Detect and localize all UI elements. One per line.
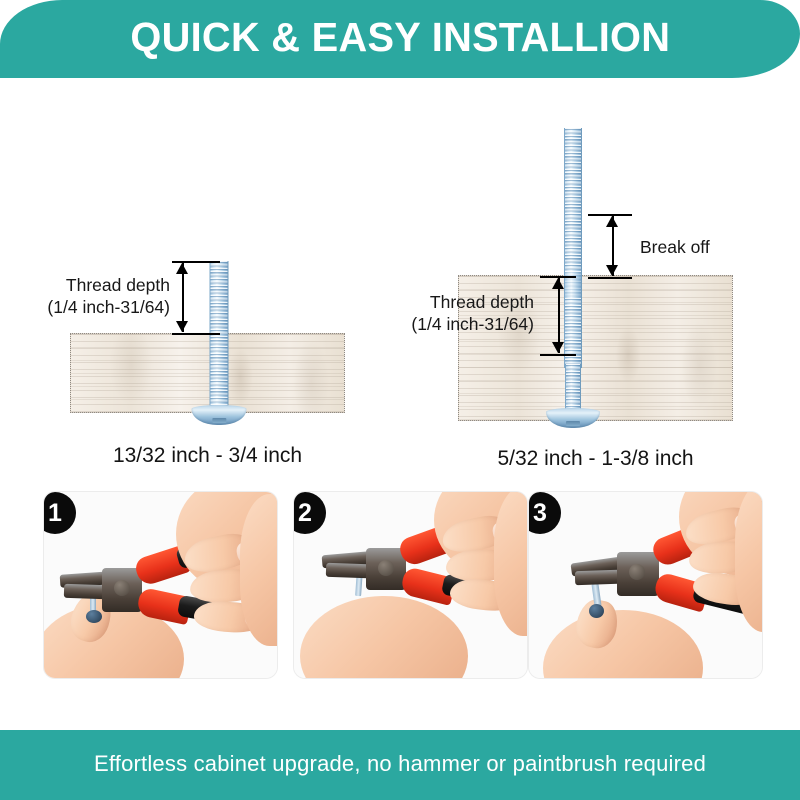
screw-shank-upper xyxy=(564,128,582,368)
step-panels: 1 2 xyxy=(0,480,800,685)
thread-depth-line-2: (1/4 inch-31/64) xyxy=(362,313,534,335)
plier-pivot xyxy=(114,580,130,596)
screw-shank xyxy=(210,261,229,409)
dim-arrow-down-thin xyxy=(176,321,188,332)
plier-pivot xyxy=(378,560,394,576)
hand-lower xyxy=(543,610,703,678)
dim-tick-bottom-thick xyxy=(540,354,576,356)
dim-arrow-up-thick xyxy=(552,278,564,289)
screw-head xyxy=(546,408,600,428)
wood-board-thin xyxy=(70,333,345,413)
dim-arrow-up-thin xyxy=(176,263,188,274)
thread-depth-line-2: (1/4 inch-31/64) xyxy=(0,296,170,318)
footer-banner: Effortless cabinet upgrade, no hammer or… xyxy=(0,730,800,800)
step-panel-1[interactable]: 1 xyxy=(44,492,277,678)
step-photo-1 xyxy=(44,492,277,678)
screw-shank-lower xyxy=(565,364,581,412)
step-panel-2[interactable]: 2 xyxy=(294,492,527,678)
thread-depth-label-thick: Thread depth (1/4 inch-31/64) xyxy=(362,291,534,336)
plier-pivot xyxy=(629,564,645,580)
thread-depth-label-thin: Thread depth (1/4 inch-31/64) xyxy=(0,274,170,319)
diagram-area: Thread depth (1/4 inch-31/64) 13/32 inch… xyxy=(0,78,800,478)
hand-lower xyxy=(300,596,468,678)
dim-arrow-down-break xyxy=(606,265,618,276)
dim-tick-break-bottom xyxy=(588,277,632,279)
step-photo-3 xyxy=(529,492,762,678)
caption-thick: 5/32 inch - 1-3/8 inch xyxy=(458,447,733,471)
screw-head xyxy=(192,405,247,425)
screw-head-in-hand xyxy=(589,604,604,618)
thread-depth-line-1: Thread depth xyxy=(0,274,170,296)
page-title: QUICK & EASY INSTALLION xyxy=(130,17,670,61)
palm-upper xyxy=(494,492,527,636)
step-photo-2 xyxy=(294,492,527,678)
step-panel-3[interactable]: 3 xyxy=(529,492,762,678)
break-off-label: Break off xyxy=(640,236,760,258)
dim-tick-bottom-thin xyxy=(172,333,220,335)
screw-head-in-hand xyxy=(86,610,102,623)
dim-arrow-up-break xyxy=(606,216,618,227)
palm-upper xyxy=(240,494,277,646)
caption-thin: 13/32 inch - 3/4 inch xyxy=(70,444,345,468)
footer-tagline: Effortless cabinet upgrade, no hammer or… xyxy=(94,751,706,779)
header-banner: QUICK & EASY INSTALLION xyxy=(0,0,800,78)
dim-arrow-down-thick xyxy=(552,342,564,353)
thread-depth-line-1: Thread depth xyxy=(362,291,534,313)
